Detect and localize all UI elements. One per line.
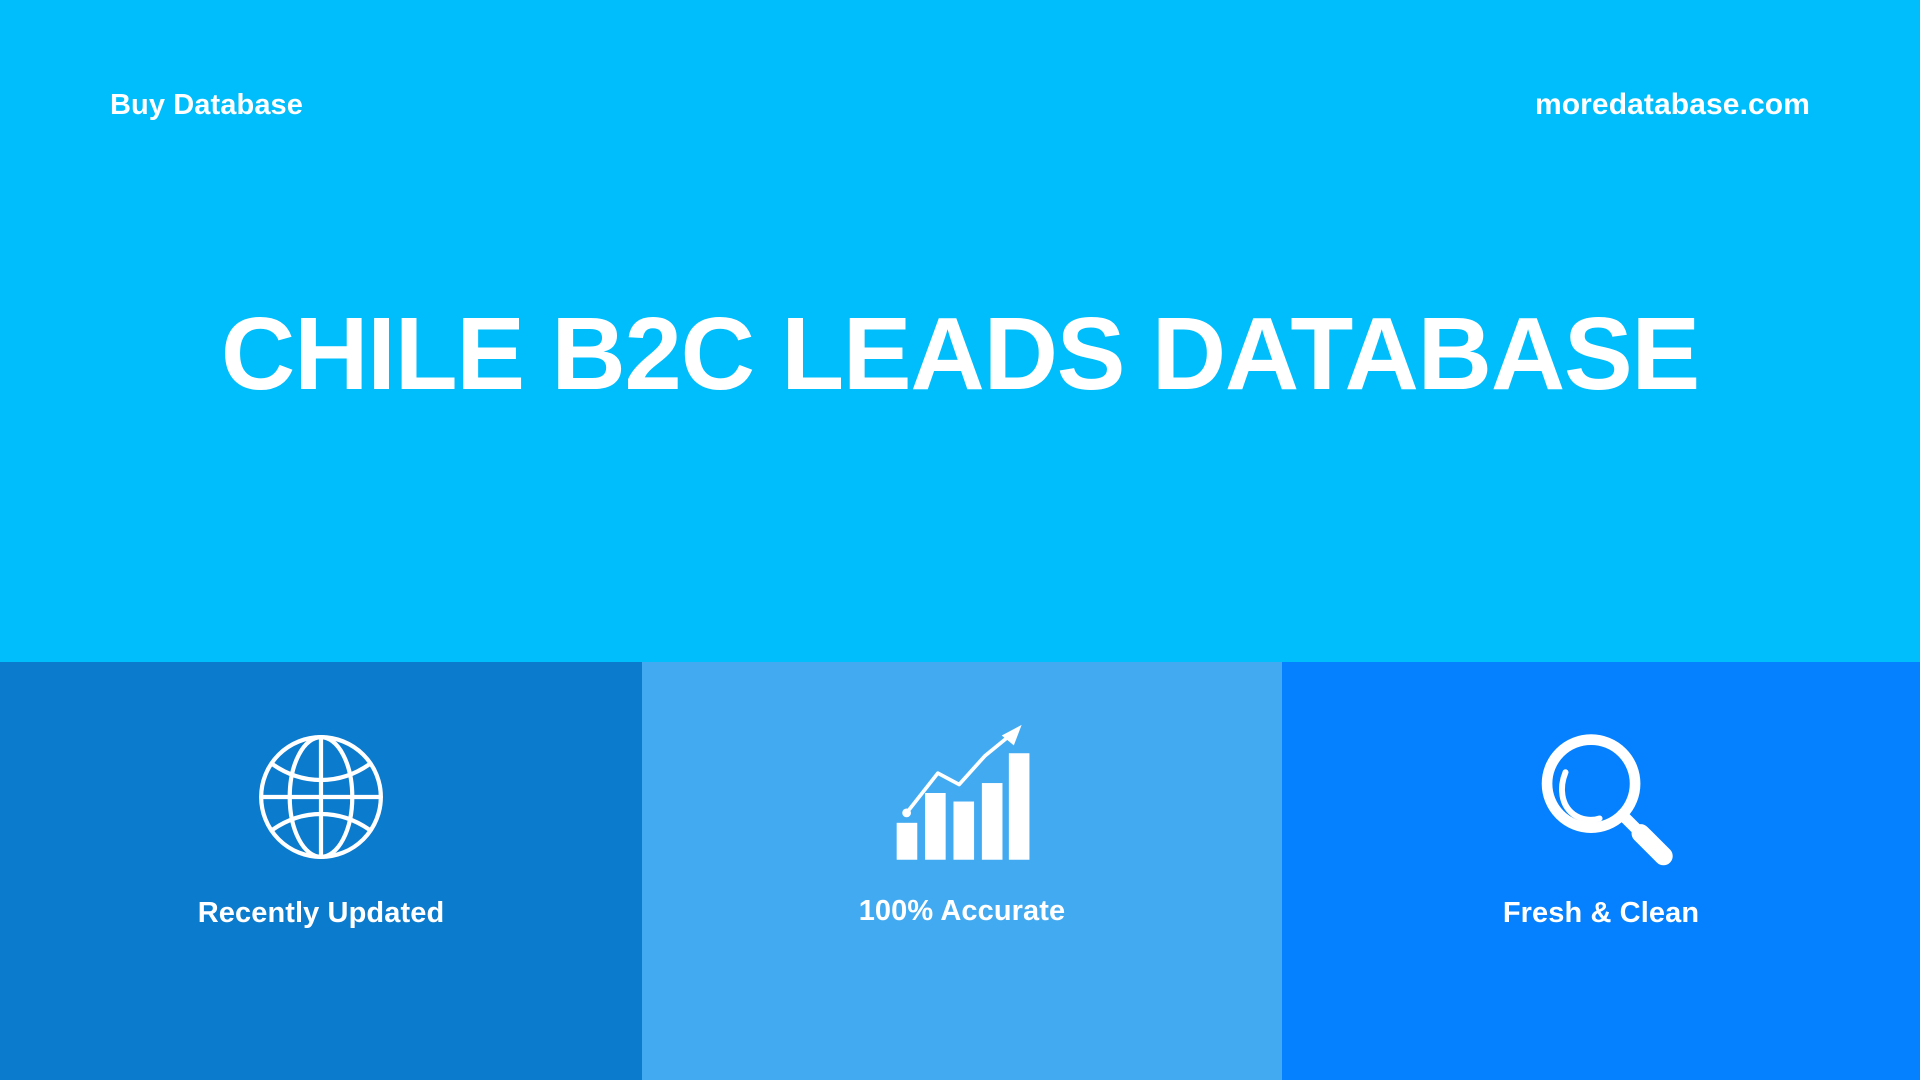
magnifying-glass-icon xyxy=(1526,720,1676,870)
bar-chart-growth-icon xyxy=(887,718,1037,868)
feature-strip: Recently Updated 100% Accu xyxy=(0,662,1920,1080)
feature-label-fresh-clean: Fresh & Clean xyxy=(1503,896,1699,931)
feature-label-accurate: 100% Accurate xyxy=(859,894,1066,929)
feature-card-recently-updated: Recently Updated xyxy=(0,662,642,1080)
feature-label-recently-updated: Recently Updated xyxy=(198,896,445,931)
hero-topbar: Buy Database moredatabase.com xyxy=(0,0,1920,210)
globe-icon xyxy=(246,722,396,872)
hero-section: Buy Database moredatabase.com CHILE B2C … xyxy=(0,0,1920,662)
page-title: CHILE B2C LEADS DATABASE xyxy=(221,300,1699,408)
feature-card-fresh-clean: Fresh & Clean xyxy=(1282,662,1920,1080)
brand-label: Buy Database xyxy=(110,91,303,120)
promo-banner: Buy Database moredatabase.com CHILE B2C … xyxy=(0,0,1920,1080)
hero-title-wrap: CHILE B2C LEADS DATABASE xyxy=(0,300,1920,408)
feature-card-accurate: 100% Accurate xyxy=(642,662,1282,1080)
site-url-label: moredatabase.com xyxy=(1535,90,1810,120)
